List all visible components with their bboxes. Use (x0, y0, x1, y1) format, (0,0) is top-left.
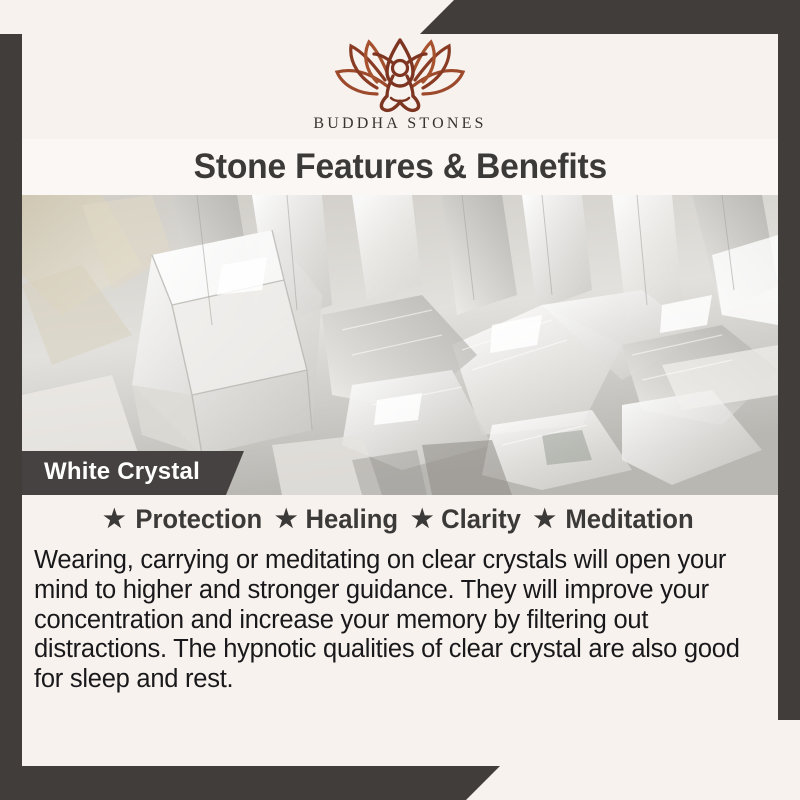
page-title: Stone Features & Benefits (193, 147, 606, 187)
star-icon: ★ (275, 507, 297, 532)
description-text: Wearing, carrying or meditating on clear… (34, 546, 770, 695)
benefit-item-protection: ★ Protection (98, 504, 270, 535)
product-info-poster: BUDDHA STONES Stone Features & Benefits (0, 0, 800, 800)
star-icon: ★ (103, 507, 125, 532)
crystal-illustration (22, 195, 778, 495)
benefit-label: Healing (306, 504, 399, 535)
benefit-item-healing: ★ Healing (270, 504, 406, 535)
photo-caption-text: White Crystal (44, 458, 200, 485)
benefit-item-meditation: ★ Meditation (528, 504, 701, 535)
photo-caption-banner: White Crystal (22, 451, 244, 495)
benefit-label: Meditation (565, 504, 693, 535)
title-banner: Stone Features & Benefits (22, 139, 778, 195)
white-crystal-cluster-photo: White Crystal (22, 195, 778, 495)
brand-name: BUDDHA STONES (313, 115, 486, 133)
frame-decoration-bottom-left (0, 766, 500, 800)
benefit-label: Clarity (442, 504, 522, 535)
brand-header: BUDDHA STONES (22, 34, 778, 139)
lotus-meditation-icon (325, 36, 475, 114)
star-icon: ★ (411, 507, 433, 532)
frame-decoration-top-right (420, 0, 800, 34)
poster-inner: BUDDHA STONES Stone Features & Benefits (22, 34, 778, 766)
frame-decoration-left (0, 34, 22, 766)
benefit-item-clarity: ★ Clarity (406, 504, 528, 535)
benefit-label: Protection (135, 504, 262, 535)
benefits-list: ★ Protection ★ Healing ★ Clarity ★ Medit… (22, 504, 778, 535)
frame-decoration-right (778, 34, 800, 720)
star-icon: ★ (533, 507, 555, 532)
